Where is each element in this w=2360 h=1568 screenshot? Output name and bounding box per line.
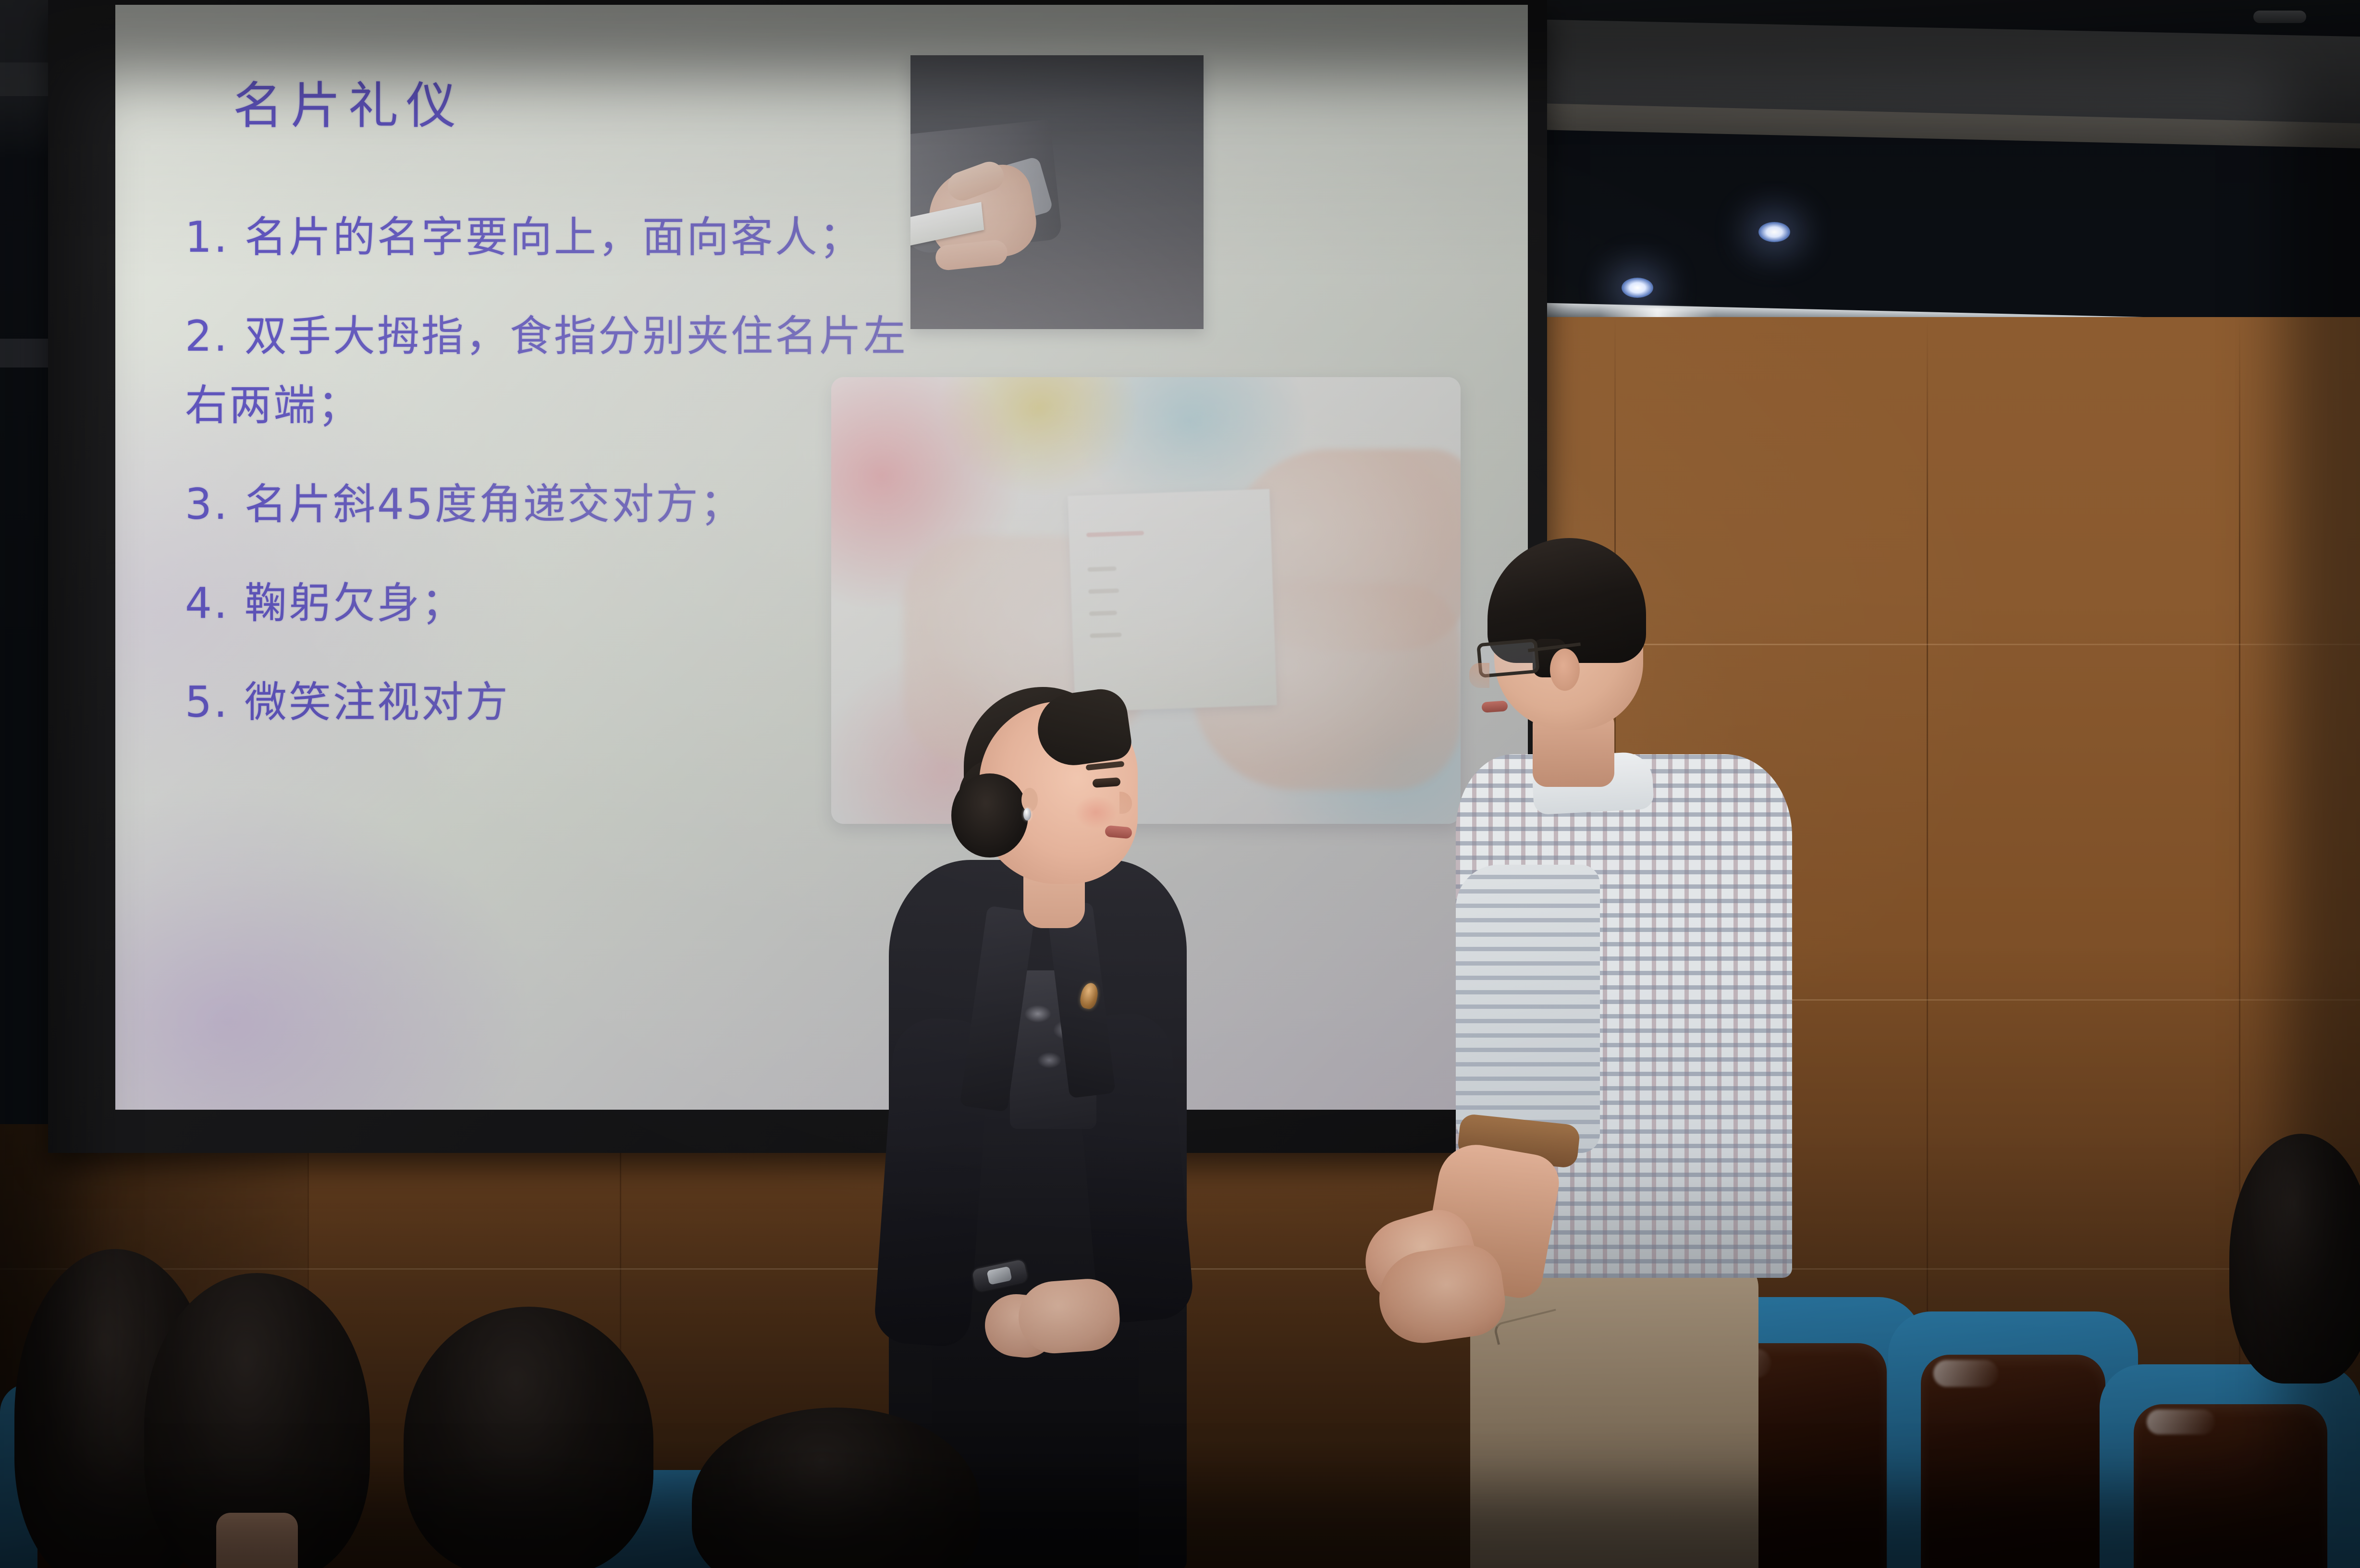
- ceiling-spotlight-2-icon: [1622, 278, 1653, 298]
- audience-hair: [692, 1408, 980, 1568]
- audience-neck: [216, 1513, 297, 1568]
- audience-member-5: [2229, 1134, 2360, 1384]
- instructor-mouth: [1105, 825, 1132, 839]
- audience-hair: [2229, 1134, 2360, 1384]
- instructor-cheek: [1074, 796, 1118, 829]
- audience-member-4: [692, 1408, 980, 1568]
- auditorium-seat[interactable]: [2100, 1364, 2360, 1568]
- ceiling-spotlight-1-icon: [1758, 222, 1790, 242]
- instructor-ear: [1021, 788, 1038, 812]
- seat-gloss-highlight: [2147, 1409, 2215, 1434]
- instructor-hair-bun: [951, 773, 1028, 857]
- instructor-hand-right: [1016, 1277, 1122, 1356]
- student-sleeve: [1456, 865, 1600, 1153]
- audience-member-3: [404, 1307, 653, 1568]
- earring-icon: [1023, 808, 1031, 821]
- presentation-slide: 名片礼仪 1. 名片的名字要向上，面向客人； 2. 双手大拇指，食指分别夹住名片…: [115, 5, 1528, 1110]
- audience-member-2: [144, 1273, 370, 1568]
- projector-screen-frame: 名片礼仪 1. 名片的名字要向上，面向客人； 2. 双手大拇指，食指分别夹住名片…: [48, 0, 1547, 1153]
- student-mouth: [1481, 700, 1508, 713]
- slide-title: 名片礼仪: [233, 65, 464, 137]
- seat-gloss-highlight: [1933, 1360, 1998, 1387]
- ceiling-vent-icon: [2253, 11, 2306, 23]
- audience-hair: [404, 1307, 653, 1568]
- student-nose: [1469, 663, 1489, 688]
- student-figure: [1461, 528, 1797, 1568]
- lecture-hall-scene: 名片礼仪 1. 名片的名字要向上，面向客人； 2. 双手大拇指，食指分别夹住名片…: [0, 0, 2360, 1568]
- slide-image-suit-hand-card: [910, 55, 1204, 329]
- student-trousers: [1470, 1259, 1758, 1568]
